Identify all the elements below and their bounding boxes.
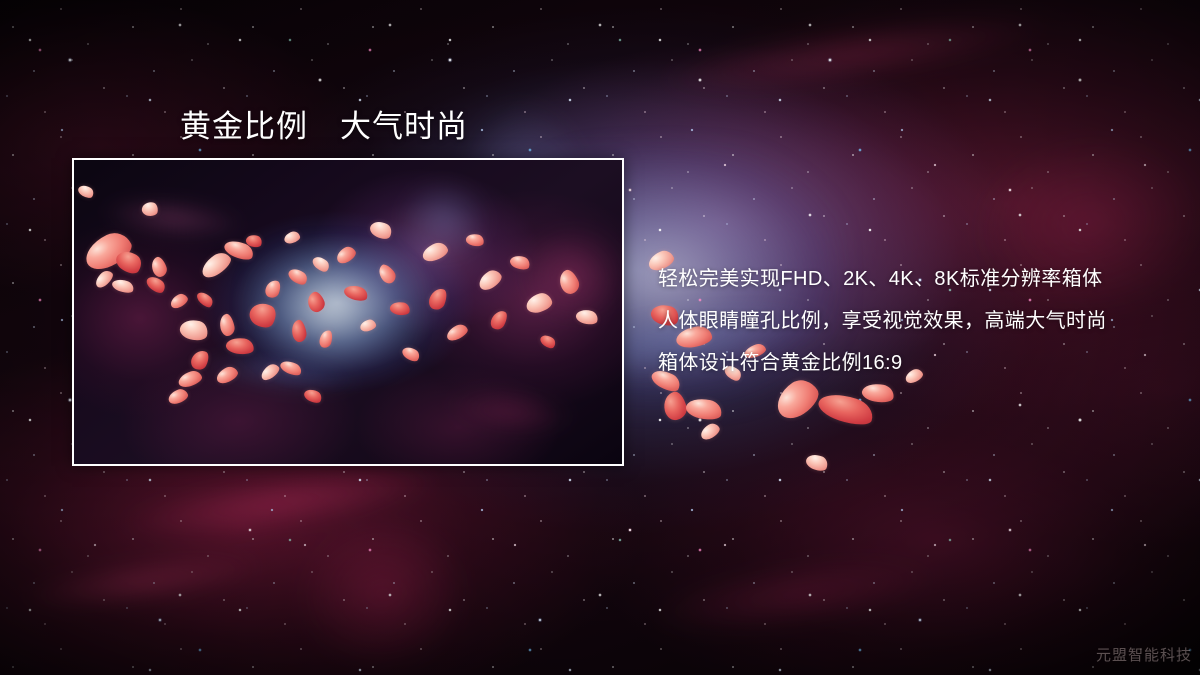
body-line-3: 箱体设计符合黄金比例16:9 [658,342,1178,384]
body-line-2: 人体眼睛瞳孔比例，享受视觉效果，高端大气时尚 [658,300,1178,342]
body-line-1: 轻松完美实现FHD、2K、4K、8K标准分辨率箱体 [658,258,1178,300]
body-copy-block: 轻松完美实现FHD、2K、4K、8K标准分辨率箱体 人体眼睛瞳孔比例，享受视觉效… [658,258,1178,384]
presentation-slide: 黄金比例 大气时尚 轻松完美实现FHD、2K、4K、8K标准分辨率箱体 人体眼睛… [0,0,1200,675]
page-title: 黄金比例 大气时尚 [180,101,468,146]
media-panel-frame [72,158,624,466]
brand-watermark: 元盟智能科技 [1096,644,1192,665]
